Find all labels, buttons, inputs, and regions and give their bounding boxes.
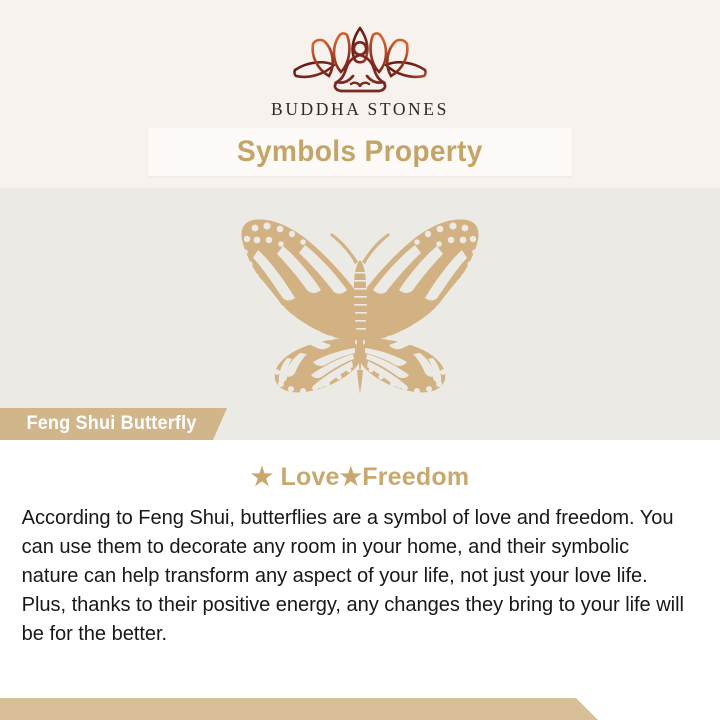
- feng-shui-butterfly-tag: Feng Shui Butterfly: [0, 408, 227, 440]
- butterfly-icon: [195, 198, 525, 398]
- tag-label: Feng Shui Butterfly: [26, 413, 196, 435]
- content-section: ★ Love★Freedom According to Feng Shui, b…: [0, 440, 720, 698]
- brand-name: BUDDHA STONES: [0, 99, 720, 120]
- brand-logo: BUDDHA STONES: [0, 24, 720, 120]
- frame-bottom-bar: [0, 698, 720, 720]
- page-root: BUDDHA STONES Symbols Property: [0, 0, 720, 720]
- title-banner: Symbols Property: [148, 128, 572, 176]
- content-subheading: ★ Love★Freedom: [0, 462, 720, 492]
- butterfly-holder: [0, 198, 720, 403]
- header-section: BUDDHA STONES Symbols Property: [0, 0, 720, 188]
- content-paragraph: According to Feng Shui, butterflies are …: [0, 504, 709, 649]
- lotus-meditation-icon: [277, 24, 443, 96]
- page-title: Symbols Property: [237, 135, 483, 169]
- illustration-panel: [0, 188, 720, 440]
